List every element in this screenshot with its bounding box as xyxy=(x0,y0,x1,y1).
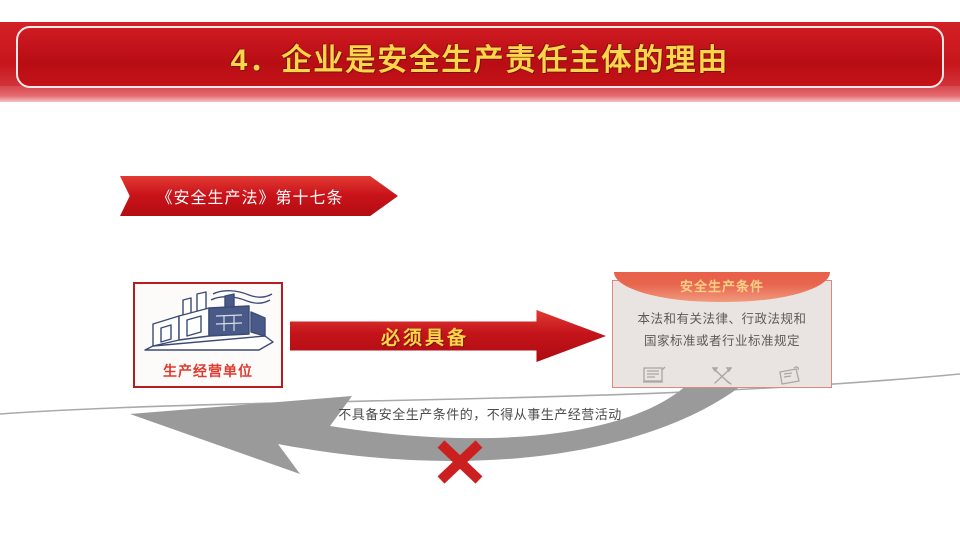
law-banner-label: 《安全生产法》第十七条 xyxy=(156,184,343,208)
document-icon xyxy=(777,366,803,386)
red-x-icon xyxy=(432,437,488,487)
conditions-line-1: 本法和有关法律、行政法规和 xyxy=(612,308,832,330)
safety-conditions-ribbon-label: 安全生产条件 xyxy=(680,276,764,295)
monitor-icon xyxy=(641,366,667,386)
title-band-shadow xyxy=(0,86,960,102)
safety-conditions-body: 本法和有关法律、行政法规和 国家标准或者行业标准规定 xyxy=(612,308,832,352)
production-entity-card: 生产经营单位 xyxy=(133,282,283,388)
must-have-arrow-label: 必须具备 xyxy=(290,310,560,362)
conditions-line-2: 国家标准或者行业标准规定 xyxy=(612,330,832,352)
slide-canvas: 4．企业是安全生产责任主体的理由 《安全生产法》第十七条 xyxy=(0,0,960,540)
law-banner: 《安全生产法》第十七条 xyxy=(120,176,398,216)
factory-icon xyxy=(139,286,281,360)
conditions-icon-row xyxy=(620,364,824,388)
footer-caption: 不具备安全生产条件的，不得从事生产经营活动 xyxy=(200,404,760,423)
entity-label: 生产经营单位 xyxy=(135,361,281,381)
page-title: 4．企业是安全生产责任主体的理由 xyxy=(0,26,960,88)
crossed-tools-icon xyxy=(709,366,735,386)
